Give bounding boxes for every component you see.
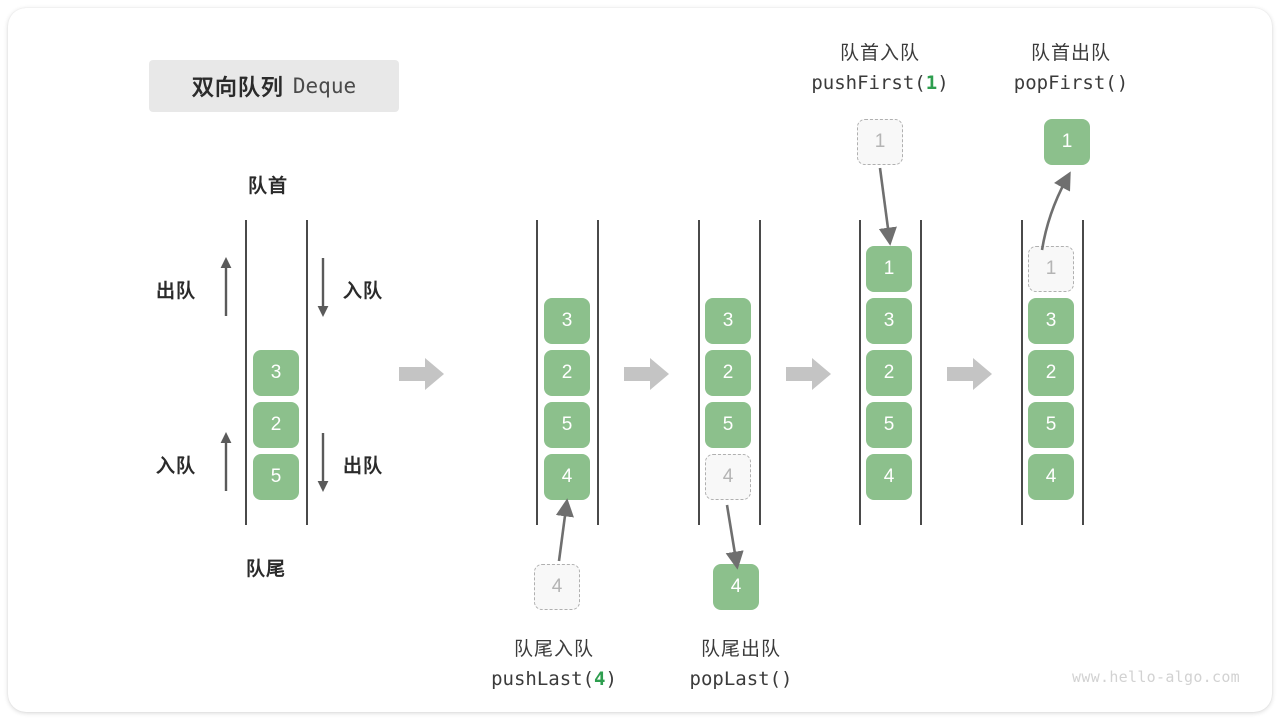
label-enqueue-front: 入队 [343,276,383,303]
caption-pop-first-code: popFirst() [981,72,1161,94]
floating-cell: 4 [534,564,580,610]
arrow-up-enqueue-rear-icon [218,431,234,493]
floating-cell: 1 [1044,119,1090,165]
diagram-canvas: 双向队列 Deque 队首 队尾 出队 入队 入队 出队 [0,0,1280,720]
arrow-down-dequeue-rear-icon [315,431,331,493]
stack-cell: 5 [705,402,751,448]
stack3-rail-right [759,220,761,525]
stack1-rail-right [306,220,308,525]
floating-cell: 4 [713,564,759,610]
stack-cell: 3 [866,298,912,344]
stack-cell: 4 [866,454,912,500]
stack-cell: 2 [705,350,751,396]
motion-arrow-push-first [880,168,889,236]
push-first-code-post: ) [937,72,948,94]
motion-arrow-pop-last [727,505,736,560]
label-enqueue-rear: 入队 [156,451,196,478]
label-rear-bottom: 队尾 [246,554,286,581]
stack-cell: 1 [1028,246,1074,292]
caption-pop-first-title: 队首出队 [991,38,1151,65]
stack-cell: 3 [253,350,299,396]
stack-cell: 5 [866,402,912,448]
stack-cell: 4 [544,454,590,500]
watermark: www.hello-algo.com [1072,668,1240,686]
title-chinese: 双向队列 [192,70,284,102]
diagram-title-chip: 双向队列 Deque [149,60,399,112]
push-first-code-pre: pushFirst( [811,72,925,94]
stack5-rail-right [1082,220,1084,525]
stack-cell: 4 [1028,454,1074,500]
stack1-rail-left [245,220,247,525]
motion-arrow-push-last [559,508,566,561]
caption-push-last-title: 队尾入队 [474,634,634,661]
floating-cell: 1 [857,119,903,165]
stack5-rail-left [1021,220,1023,525]
stack-cell: 5 [1028,402,1074,448]
transition-arrow-1-icon [399,356,445,392]
stack-cell: 2 [544,350,590,396]
push-first-code-arg: 1 [926,72,937,94]
stack-cell: 2 [253,402,299,448]
stack-cell: 5 [544,402,590,448]
push-last-code-pre: pushLast( [491,668,594,690]
stack-cell: 5 [253,454,299,500]
caption-push-first-title: 队首入队 [800,38,960,65]
caption-push-first-code: pushFirst(1) [780,72,980,94]
stack-cell: 3 [544,298,590,344]
stack-cell: 2 [1028,350,1074,396]
stack-cell: 2 [866,350,912,396]
transition-arrow-2-icon [624,356,670,392]
stack4-rail-left [859,220,861,525]
caption-pop-last-code: popLast() [651,668,831,690]
arrow-up-dequeue-front-icon [218,256,234,318]
stack3-rail-left [698,220,700,525]
push-last-code-arg: 4 [594,668,605,690]
title-english: Deque [293,74,356,98]
stack2-rail-right [597,220,599,525]
stack-cell: 3 [1028,298,1074,344]
push-last-code-post: ) [605,668,616,690]
stack4-rail-right [920,220,922,525]
transition-arrow-4-icon [947,356,993,392]
arrow-down-enqueue-front-icon [315,256,331,318]
transition-arrow-3-icon [786,356,832,392]
label-dequeue-front: 出队 [156,276,196,303]
stack-cell: 4 [705,454,751,500]
label-dequeue-rear: 出队 [343,451,383,478]
caption-pop-last-title: 队尾出队 [661,634,821,661]
motion-arrow-pop-first [1042,180,1066,250]
stack-cell: 3 [705,298,751,344]
diagram-card: 双向队列 Deque 队首 队尾 出队 入队 入队 出队 [8,8,1272,712]
stack-cell: 1 [866,246,912,292]
caption-push-last-code: pushLast(4) [454,668,654,690]
stack2-rail-left [536,220,538,525]
label-front-top: 队首 [248,171,288,198]
